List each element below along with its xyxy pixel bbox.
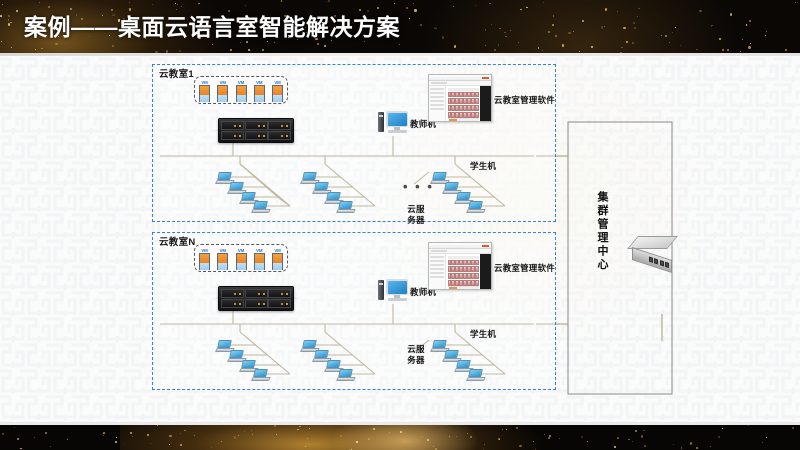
pc-tower-icon: [378, 280, 384, 300]
vm-instance: VM: [236, 248, 247, 270]
header-glow-right: [420, 0, 740, 53]
vm-instance: VM: [217, 248, 228, 270]
slide-footer: [0, 425, 800, 450]
vm-instance: VM: [217, 80, 228, 102]
footer-glow-core: [330, 425, 480, 450]
vm-instance: VM: [199, 248, 210, 270]
page-title: 案例——桌面云语言室智能解决方案: [24, 8, 400, 42]
classroom-ellipsis: • • •: [403, 180, 434, 193]
vm-instance: VM: [272, 248, 283, 270]
slide-header: 案例——桌面云语言室智能解决方案: [0, 0, 800, 53]
cloud-server-rack-n: [218, 286, 294, 311]
management-software-window-n: [428, 242, 492, 290]
cloud-server-label-n-line2: 务器: [403, 355, 429, 365]
vm-instance: VM: [272, 80, 283, 102]
vm-pool-n: VM VM VM VM VM: [194, 244, 288, 272]
vm-instance: VM: [254, 248, 265, 270]
student-laptop: [337, 201, 355, 212]
pc-tower-icon: [378, 112, 384, 132]
management-software-label-1: 云教室管理软件: [494, 94, 555, 106]
classroom-1-label: 云教室1: [158, 66, 195, 80]
student-laptop: [337, 369, 355, 380]
slide: 案例——桌面云语言室智能解决方案: [0, 0, 800, 450]
cloud-server-label-n-line1: 云服: [403, 344, 429, 354]
teacher-pc-n: [378, 279, 408, 305]
cloud-server-rack-1: [218, 118, 294, 143]
teacher-pc-1: [378, 111, 408, 137]
pc-monitor-icon: [386, 279, 408, 295]
classroom-n-label: 云教室N: [158, 234, 197, 248]
vm-instance: VM: [199, 80, 210, 102]
student-thumbnail-grid: [448, 92, 479, 118]
diagram-canvas: 云教室1 VM VM VM VM VM: [0, 56, 800, 425]
vm-pool-1: VM VM VM VM VM: [194, 76, 288, 104]
cloud-server-label-1-line2: 务器: [403, 215, 429, 225]
network-switch-icon: [632, 236, 678, 270]
vm-instance: VM: [236, 80, 247, 102]
management-software-label-n: 云教室管理软件: [494, 262, 555, 274]
student-laptop: [467, 369, 485, 380]
student-laptop: [252, 201, 270, 212]
cloud-server-label-1-line1: 云服: [403, 204, 429, 214]
student-thumbnail-grid: [448, 260, 479, 286]
student-laptop: [252, 369, 270, 380]
student-machine-label-1: 学生机: [470, 160, 496, 172]
student-machine-label-n: 学生机: [470, 328, 496, 340]
vm-instance: VM: [254, 80, 265, 102]
cluster-management-center-label: 集群管理中心: [596, 191, 607, 272]
student-laptop: [467, 201, 485, 212]
pc-monitor-icon: [386, 111, 408, 127]
management-software-window-1: [428, 74, 492, 122]
